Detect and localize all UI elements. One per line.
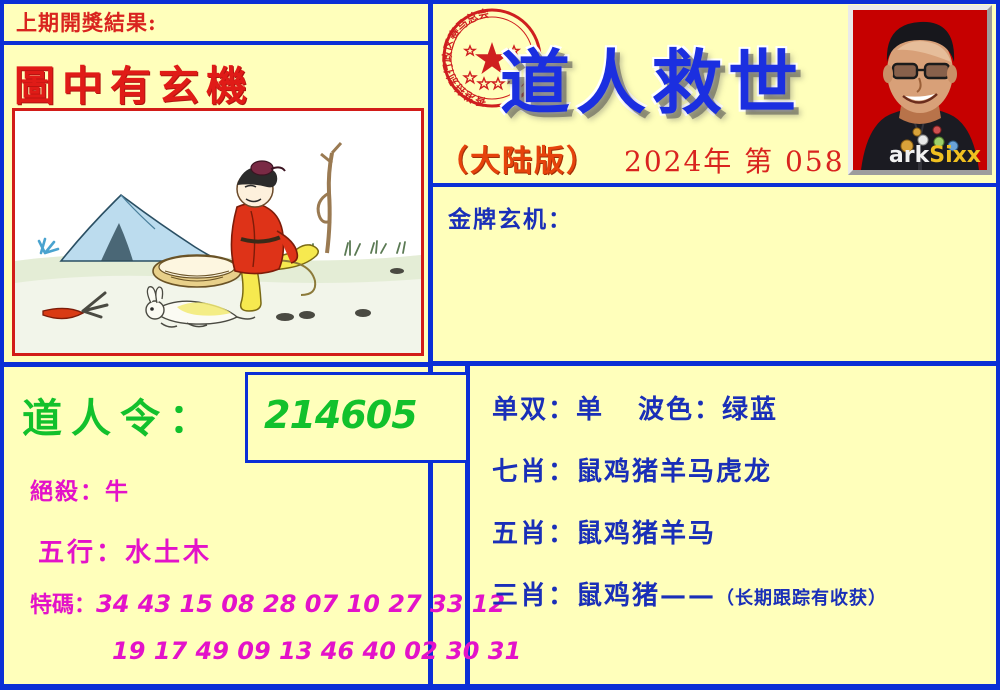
illustration-svg (15, 111, 421, 353)
three-note: （长期跟踪有收获） (716, 588, 887, 609)
decree-label: 道人令： (22, 386, 218, 444)
gold-oracle-band: 金牌玄机： (434, 189, 996, 359)
five-value: 鼠鸡猪羊马 (576, 519, 716, 549)
oddeven-value: 单 (576, 395, 604, 425)
wave-value: 绿蓝 (722, 395, 778, 425)
svg-text:arkSixx: arkSixx (889, 143, 981, 168)
special-numbers-row-2: 19 17 49 09 13 46 40 02 30 31 (112, 637, 521, 665)
master-portrait: arkSixx (848, 5, 992, 175)
frame-border-right (996, 0, 1000, 690)
special-numbers-row-1: 特碼：34 43 15 08 28 07 10 27 33 12 (30, 587, 505, 619)
right-bottom-panel: 单双：单波色：绿蓝 七肖：鼠鸡猪羊马虎龙 五肖：鼠鸡猪羊马 三肖：鼠鸡猪——（长… (470, 369, 996, 686)
three-zodiac-row: 三肖：鼠鸡猪——（长期跟踪有收获） (492, 575, 887, 612)
last-result-label: 上期開獎結果: (16, 7, 157, 37)
seven-zodiac-row: 七肖：鼠鸡猪羊马虎龙 (492, 451, 772, 488)
gold-oracle-label: 金牌玄机： (448, 200, 573, 234)
kill-row: 絕殺：牛 (30, 472, 130, 506)
divider-right-midrow (430, 361, 1000, 366)
svg-text:香港特别行政区赛马总会: 香港特别行政区赛马总会 (440, 6, 491, 110)
five-zodiac-row: 五肖：鼠鸡猪羊马 (492, 513, 716, 550)
three-value: 鼠鸡猪—— (576, 581, 716, 611)
kill-label: 絕殺： (30, 478, 105, 505)
edition-line: （大陆版） 2024年 第 058 期 (438, 136, 885, 180)
edition-label: （大陆版） (438, 136, 598, 180)
special-numbers-line-2: 19 17 49 09 13 46 40 02 30 31 (112, 637, 521, 665)
seven-value: 鼠鸡猪羊马虎龙 (576, 457, 772, 487)
oddeven-wave-row: 单双：单波色：绿蓝 (492, 389, 778, 426)
riddle-illustration (12, 108, 424, 356)
oddeven-label: 单双： (492, 395, 576, 425)
poster-root: 上期開獎結果: 圖中有玄機 (0, 0, 1000, 690)
picture-title: 圖中有玄機 (14, 52, 254, 112)
main-title: 道人救世 (500, 27, 804, 128)
element-value: 水土木 (125, 538, 212, 568)
decree-value: 214605 (264, 393, 417, 437)
three-label: 三肖： (492, 581, 576, 611)
divider-left-midrow (0, 362, 433, 367)
kill-value: 牛 (105, 478, 130, 505)
last-result-strip: 上期開獎結果: (4, 3, 428, 41)
wave-label: 波色： (638, 395, 722, 425)
seven-label: 七肖： (492, 457, 576, 487)
decree-value-box: 214605 (245, 372, 469, 463)
five-label: 五肖： (492, 519, 576, 549)
special-numbers-line-1: 34 43 15 08 28 07 10 27 33 12 (96, 590, 505, 618)
left-bottom-panel: 道人令： 214605 絕殺：牛 五行：水土木 特碼：34 43 15 08 2… (4, 369, 428, 686)
element-row: 五行：水土木 (38, 532, 212, 569)
issue-label: 2024年 第 058 期 (624, 140, 885, 180)
special-label: 特碼： (30, 592, 96, 618)
masthead: 香港特别行政区赛马总会 道人救世 （大陆版） 2024年 第 058 期 (434, 3, 996, 185)
element-label: 五行： (38, 538, 125, 568)
